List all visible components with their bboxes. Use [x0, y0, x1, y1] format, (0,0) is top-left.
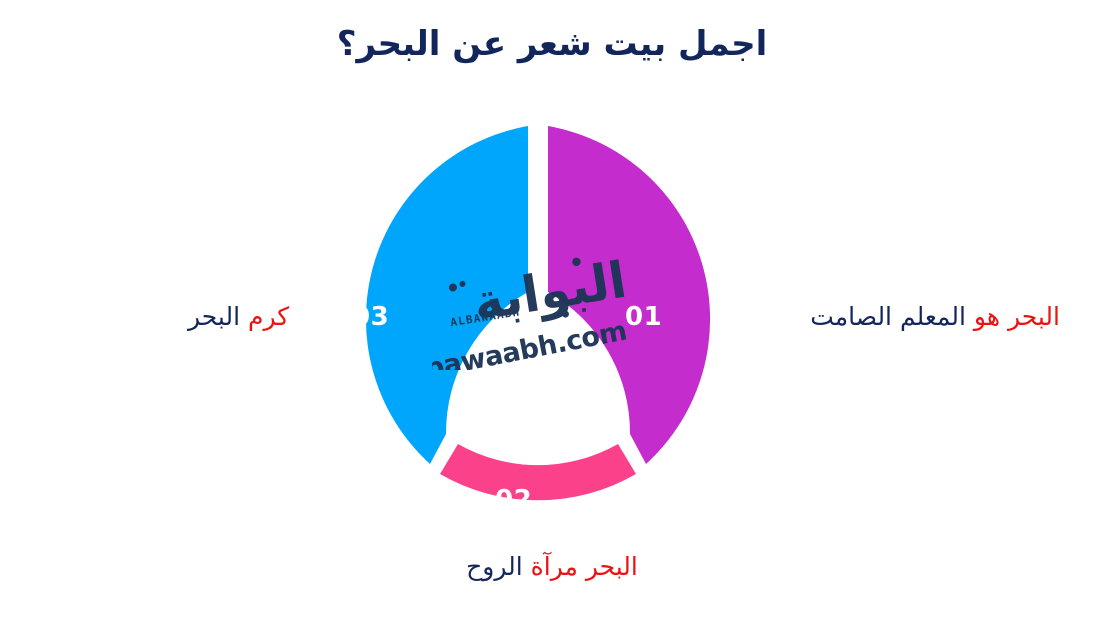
pie-label-01: البحر هو المعلم الصامت [810, 302, 1060, 331]
pie-label-02: البحر مرآة الروح [0, 552, 1104, 581]
page-title: اجمل بيت شعر عن البحر؟ [0, 24, 1104, 64]
pie-label-01-rest: المعلم الصامت [810, 302, 966, 331]
pie-slice-02[interactable] [440, 444, 636, 500]
pie-label-03-rest: البحر [188, 302, 240, 331]
pie-slice-01[interactable] [548, 126, 710, 464]
pie-label-02-highlight: البحر مرآة [531, 552, 638, 581]
pie-chart-svg [330, 112, 750, 532]
pie-label-02-rest: الروح [466, 552, 523, 581]
infographic-canvas: اجمل بيت شعر عن البحر؟ 01 02 03 البحر هو… [0, 0, 1104, 626]
pie-label-01-highlight: البحر هو [974, 302, 1060, 331]
pie-slice-03[interactable] [366, 126, 528, 464]
pie-chart [330, 112, 750, 532]
pie-label-03: كرم البحر [188, 302, 289, 331]
pie-label-03-highlight: كرم [248, 302, 289, 331]
